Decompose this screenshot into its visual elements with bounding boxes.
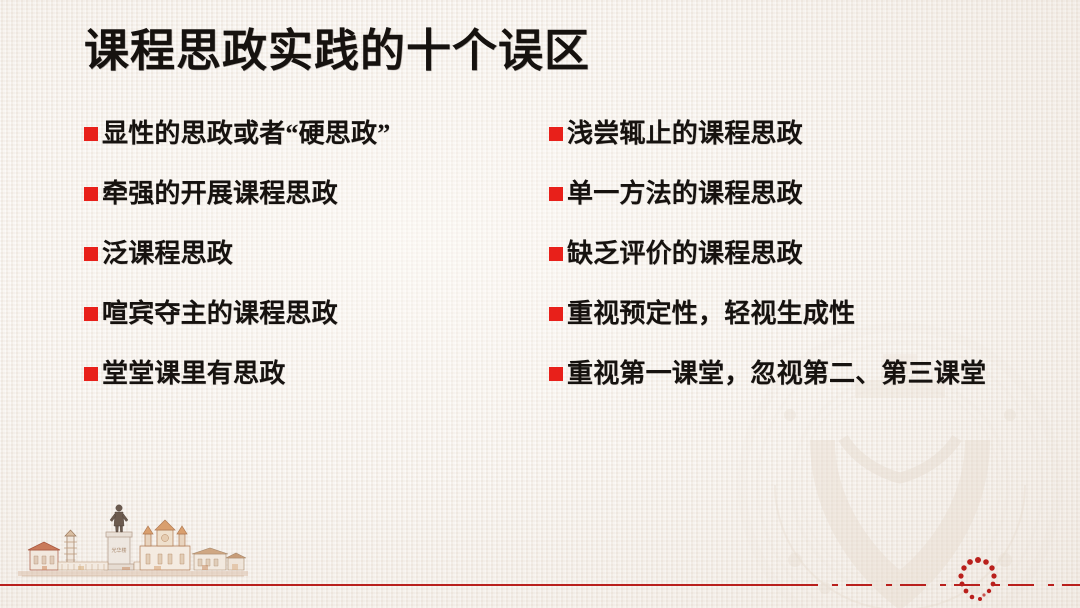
list-item-label: 浅尝辄止的课程思政 — [567, 116, 803, 152]
footer-rule-solid — [0, 584, 792, 586]
footer-rule-dashed — [792, 584, 1080, 586]
bullet-column-right: 浅尝辄止的课程思政 单一方法的课程思政 缺乏评价的课程思政 重视预定性，轻视生成… — [549, 116, 1069, 416]
list-item-label: 喧宾夺主的课程思政 — [102, 296, 338, 332]
list-item-label: 显性的思政或者“硬思政” — [102, 116, 390, 152]
list-item[interactable]: 牵强的开展课程思政 — [84, 176, 524, 236]
list-item[interactable]: 浅尝辄止的课程思政 — [549, 116, 1069, 176]
red-square-bullet-icon — [549, 307, 563, 321]
red-square-bullet-icon — [84, 307, 98, 321]
red-square-bullet-icon — [84, 187, 98, 201]
page-title: 课程思政实践的十个误区 — [84, 22, 590, 80]
list-item[interactable]: 显性的思政或者“硬思政” — [84, 116, 524, 176]
red-square-bullet-icon — [549, 367, 563, 381]
list-item-label: 缺乏评价的课程思政 — [567, 236, 803, 272]
red-square-bullet-icon — [549, 247, 563, 261]
list-item[interactable]: 重视第一课堂，忽视第二、第三课堂 — [549, 356, 1069, 416]
list-item-label: 泛课程思政 — [102, 236, 233, 272]
red-square-bullet-icon — [549, 187, 563, 201]
list-item[interactable]: 堂堂课里有思政 — [84, 356, 524, 416]
bullet-column-left: 显性的思政或者“硬思政” 牵强的开展课程思政 泛课程思政 喧宾夺主的课程思政 堂… — [84, 116, 524, 416]
list-item[interactable]: 单一方法的课程思政 — [549, 176, 1069, 236]
slide-canvas: 课程思政实践的十个误区 显性的思政或者“硬思政” 牵强的开展课程思政 泛课程思政… — [0, 0, 1080, 608]
list-item-label: 堂堂课里有思政 — [102, 356, 285, 392]
list-item-label: 重视预定性，轻视生成性 — [567, 296, 855, 332]
list-item-label: 单一方法的课程思政 — [567, 176, 803, 212]
svg-text:光华楼: 光华楼 — [111, 547, 126, 554]
red-square-bullet-icon — [84, 127, 98, 141]
red-square-bullet-icon — [84, 367, 98, 381]
red-square-bullet-icon — [84, 247, 98, 261]
list-item[interactable]: 喧宾夺主的课程思政 — [84, 296, 524, 356]
list-item-label: 重视第一课堂，忽视第二、第三课堂 — [567, 356, 986, 392]
red-square-bullet-icon — [549, 127, 563, 141]
campus-skyline-illustration-icon: 光华楼 — [12, 496, 252, 584]
list-item[interactable]: 泛课程思政 — [84, 236, 524, 296]
red-dot-ring-icon — [955, 556, 1001, 606]
list-item[interactable]: 重视预定性，轻视生成性 — [549, 296, 1069, 356]
list-item[interactable]: 缺乏评价的课程思政 — [549, 236, 1069, 296]
list-item-label: 牵强的开展课程思政 — [102, 176, 338, 212]
